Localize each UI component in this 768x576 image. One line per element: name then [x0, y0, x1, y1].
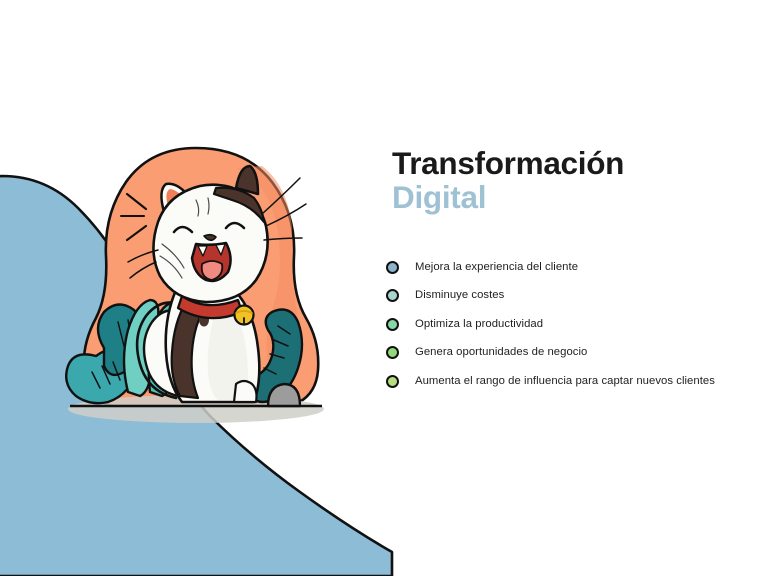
- bullet-marker-icon: [386, 261, 399, 274]
- title-line-secondary: Digital: [392, 182, 750, 214]
- bullet-marker-icon: [386, 318, 399, 331]
- bullet-marker-icon: [386, 289, 399, 302]
- page-title: Transformación Digital: [388, 148, 750, 213]
- bullet-marker-icon: [386, 346, 399, 359]
- laughing-cat-illustration: [0, 0, 400, 576]
- list-item-label: Optimiza la productividad: [415, 317, 543, 331]
- list-item[interactable]: Disminuye costes: [386, 288, 746, 302]
- title-line-primary: Transformación: [392, 148, 750, 180]
- list-item[interactable]: Aumenta el rango de influencia para capt…: [386, 374, 746, 388]
- bullet-marker-icon: [386, 375, 399, 388]
- list-item[interactable]: Mejora la experiencia del cliente: [386, 260, 746, 274]
- list-item[interactable]: Optimiza la productividad: [386, 317, 746, 331]
- slide-canvas: Transformación Digital Mejora la experie…: [0, 0, 768, 576]
- list-item-label: Genera oportunidades de negocio: [415, 345, 587, 359]
- collar-bell: [235, 306, 254, 325]
- list-item-label: Mejora la experiencia del cliente: [415, 260, 578, 274]
- content-column: Transformación Digital Mejora la experie…: [388, 148, 750, 213]
- benefits-list: Mejora la experiencia del cliente Dismin…: [386, 260, 746, 388]
- list-item-label: Disminuye costes: [415, 288, 504, 302]
- list-item[interactable]: Genera oportunidades de negocio: [386, 345, 746, 359]
- list-item-label: Aumenta el rango de influencia para capt…: [415, 374, 715, 388]
